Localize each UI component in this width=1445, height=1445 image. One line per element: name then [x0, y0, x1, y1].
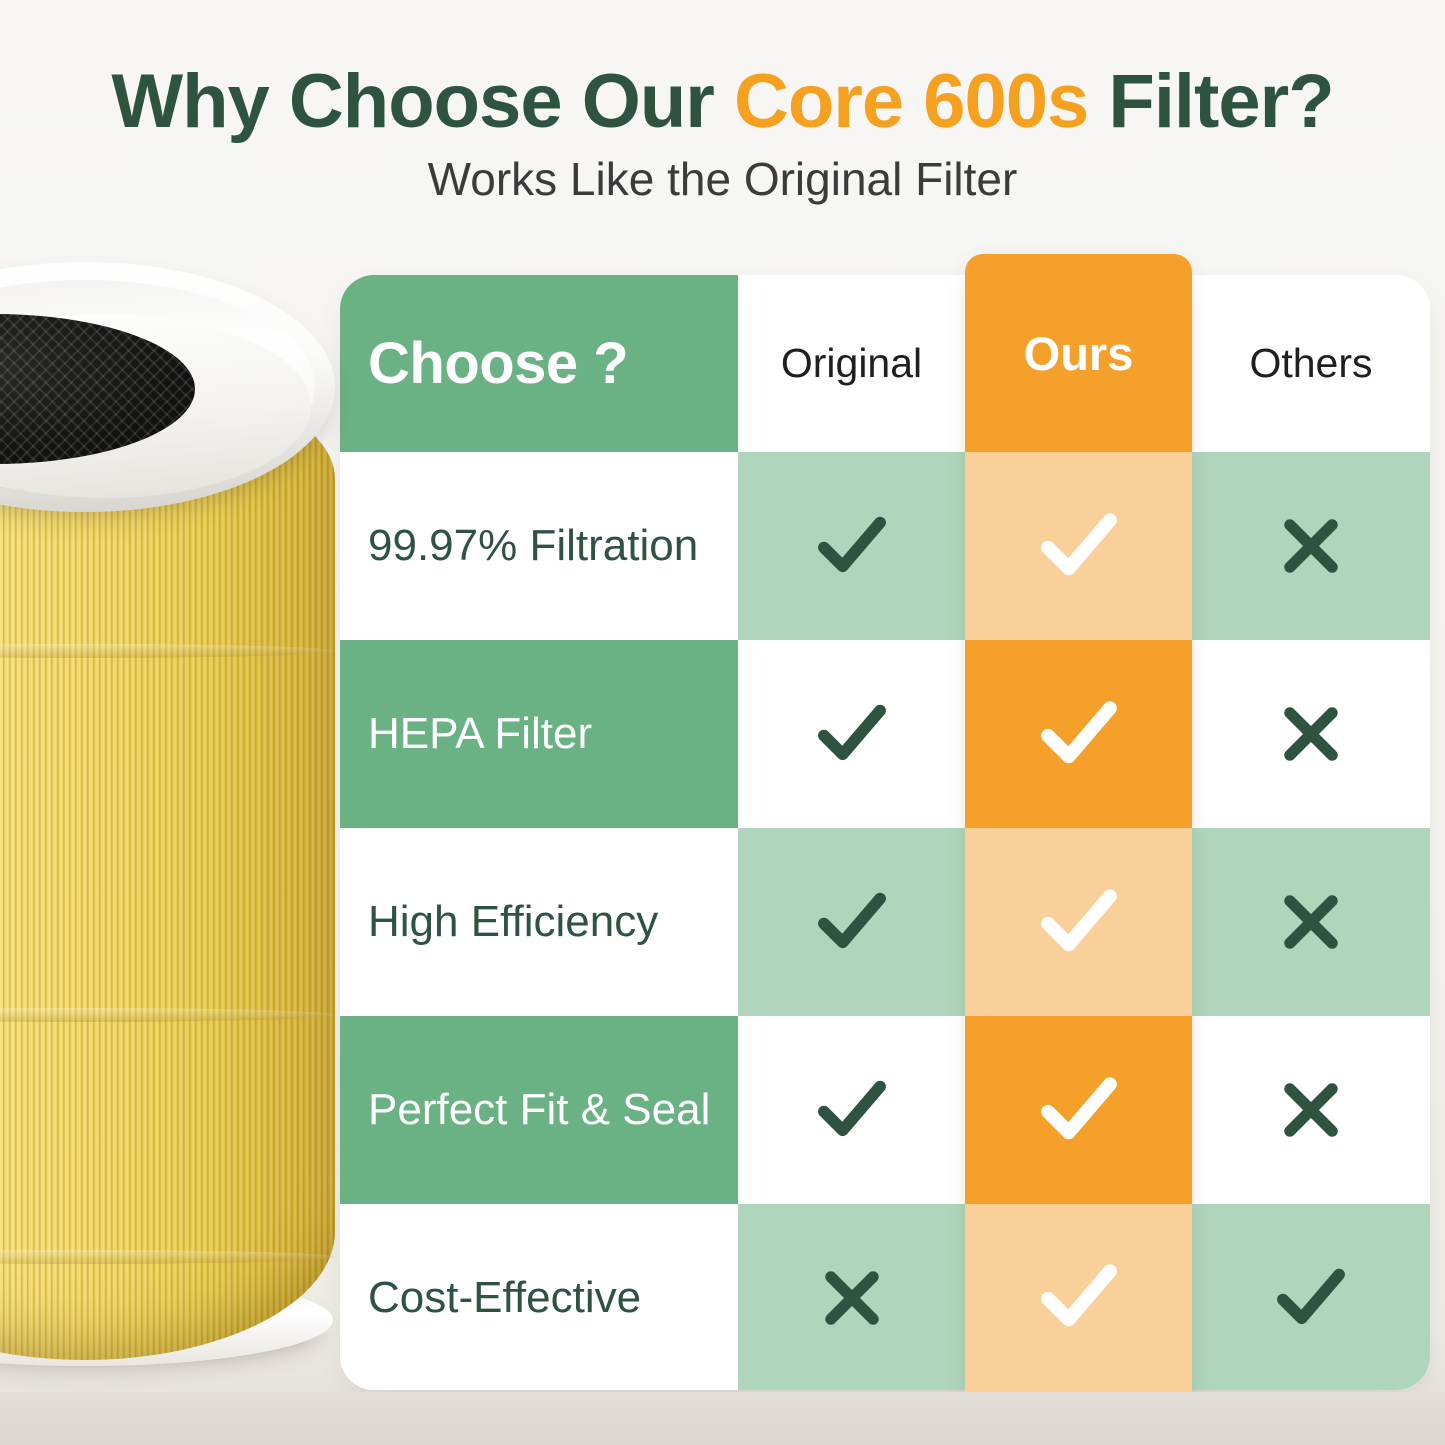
table-header-original: Original [738, 275, 965, 452]
cross-icon [1278, 889, 1344, 955]
filter-band [0, 644, 335, 658]
filter-band [0, 1250, 335, 1264]
filter-band [0, 1008, 335, 1022]
highlighted-ours-column[interactable]: Ours [965, 254, 1192, 1412]
table-row: HEPA Filter [340, 640, 1430, 828]
page-title-highlight: Core 600s [734, 59, 1088, 144]
infographic-page: Why Choose Our Core 600s Filter? Works L… [0, 0, 1445, 1445]
bottom-strip [0, 1392, 1445, 1445]
filter-pleated-body [0, 370, 335, 1360]
row-label-filtration: 99.97% Filtration [340, 452, 738, 640]
cross-icon [1278, 701, 1344, 767]
table-row: High Efficiency [340, 828, 1430, 1016]
ours-cell-hepa [965, 640, 1192, 828]
check-icon [1036, 691, 1122, 777]
cell-original-efficiency [738, 828, 965, 1016]
check-icon [1036, 1254, 1122, 1340]
ours-cell-fit-seal [965, 1016, 1192, 1204]
ours-cell-efficiency [965, 828, 1192, 1016]
check-icon [1272, 1259, 1350, 1337]
filter-rim-inner [0, 314, 311, 498]
table-header-feature: Choose ? [340, 275, 738, 452]
ours-column-label: Ours [1024, 326, 1134, 381]
cell-others-efficiency [1192, 828, 1430, 1016]
check-icon [813, 883, 891, 961]
table-row: Perfect Fit & Seal [340, 1016, 1430, 1204]
cell-original-filtration [738, 452, 965, 640]
cross-icon [1278, 1077, 1344, 1143]
page-title-part-2: Filter? [1088, 59, 1333, 144]
page-subtitle: Works Like the Original Filter [0, 152, 1445, 206]
cell-original-fit-seal [738, 1016, 965, 1204]
cell-others-filtration [1192, 452, 1430, 640]
cell-others-cost-effective [1192, 1204, 1430, 1390]
row-label-cost-effective: Cost-Effective [340, 1204, 738, 1390]
row-label-fit-seal: Perfect Fit & Seal [340, 1016, 738, 1204]
check-icon [1036, 1067, 1122, 1153]
row-label-efficiency: High Efficiency [340, 828, 738, 1016]
cell-others-hepa [1192, 640, 1430, 828]
cell-original-hepa [738, 640, 965, 828]
ours-cell-filtration [965, 452, 1192, 640]
table-row: Cost-Effective [340, 1204, 1430, 1390]
table-header-others: Others [1192, 275, 1430, 452]
cross-icon [1278, 513, 1344, 579]
row-label-hepa: HEPA Filter [340, 640, 738, 828]
table-header-row: Choose ? Original Others [340, 275, 1430, 452]
filter-base-rim [0, 1274, 333, 1366]
cross-icon [819, 1265, 885, 1331]
check-icon [813, 695, 891, 773]
ours-cell-cost-effective [965, 1204, 1192, 1412]
ours-column-header: Ours [965, 254, 1192, 452]
filter-rim-ring [0, 280, 315, 494]
page-title-part-1: Why Choose Our [111, 59, 734, 144]
check-icon [1036, 879, 1122, 965]
check-icon [1036, 503, 1122, 589]
filter-top-rim [0, 262, 335, 512]
filter-product-image [0, 262, 355, 1367]
cell-original-cost-effective [738, 1204, 965, 1390]
check-icon [813, 507, 891, 585]
table-row: 99.97% Filtration [340, 452, 1430, 640]
comparison-table: Choose ? Original Others 99.97% Filtrati… [340, 275, 1430, 1390]
filter-carbon-mesh [0, 314, 195, 464]
page-title: Why Choose Our Core 600s Filter? [0, 58, 1445, 145]
cell-others-fit-seal [1192, 1016, 1430, 1204]
check-icon [813, 1071, 891, 1149]
